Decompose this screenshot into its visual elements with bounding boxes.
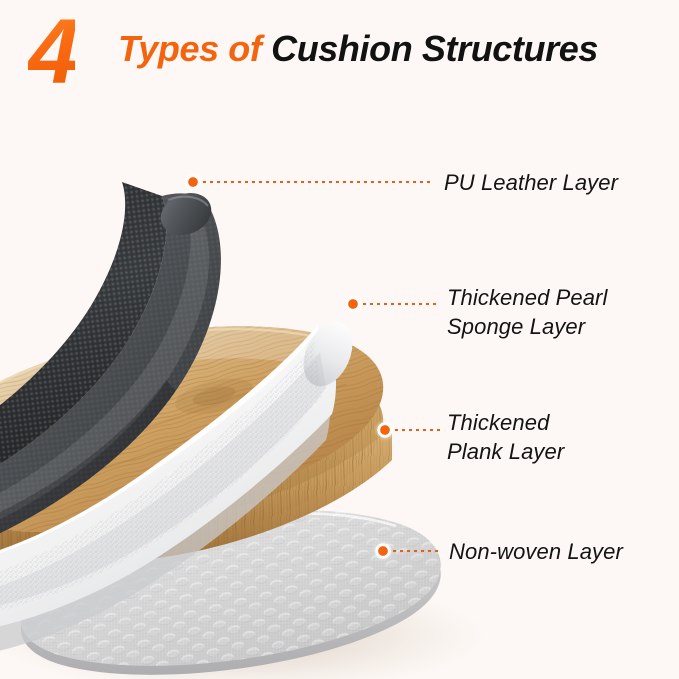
callout-label-line: Plank Layer: [447, 437, 564, 466]
count-number: 4: [28, 6, 75, 98]
infographic-canvas: 4 Types of Cushion Structures: [0, 0, 679, 679]
callout-dot-pu-leather[interactable]: [182, 171, 204, 193]
callout-dot-non-woven[interactable]: [372, 540, 394, 562]
title-dark-part: Cushion Structures: [271, 28, 598, 69]
callout-label-line: PU Leather Layer: [444, 168, 618, 197]
leader-line-plank: [395, 429, 441, 431]
leader-line-pu-leather: [203, 181, 431, 183]
header: 4 Types of Cushion Structures: [0, 0, 679, 104]
callout-label-line: Sponge Layer: [447, 312, 607, 341]
callout-label-plank: Thickened Plank Layer: [447, 408, 564, 466]
leader-line-pearl-sponge: [363, 303, 437, 305]
callout-label-line: Thickened Pearl: [447, 283, 607, 312]
leader-line-non-woven: [393, 550, 441, 552]
callout-label-line: Non-woven Layer: [449, 537, 623, 566]
title-orange-part: Types of: [118, 28, 262, 69]
callout-dot-plank[interactable]: [374, 419, 396, 441]
page-title: Types of Cushion Structures: [118, 28, 598, 70]
callout-dot-pearl-sponge[interactable]: [342, 293, 364, 315]
callout-label-non-woven: Non-woven Layer: [449, 537, 623, 566]
callout-label-line: Thickened: [447, 408, 564, 437]
callout-label-pu-leather: PU Leather Layer: [444, 168, 618, 197]
callout-label-pearl-sponge: Thickened Pearl Sponge Layer: [447, 283, 607, 341]
